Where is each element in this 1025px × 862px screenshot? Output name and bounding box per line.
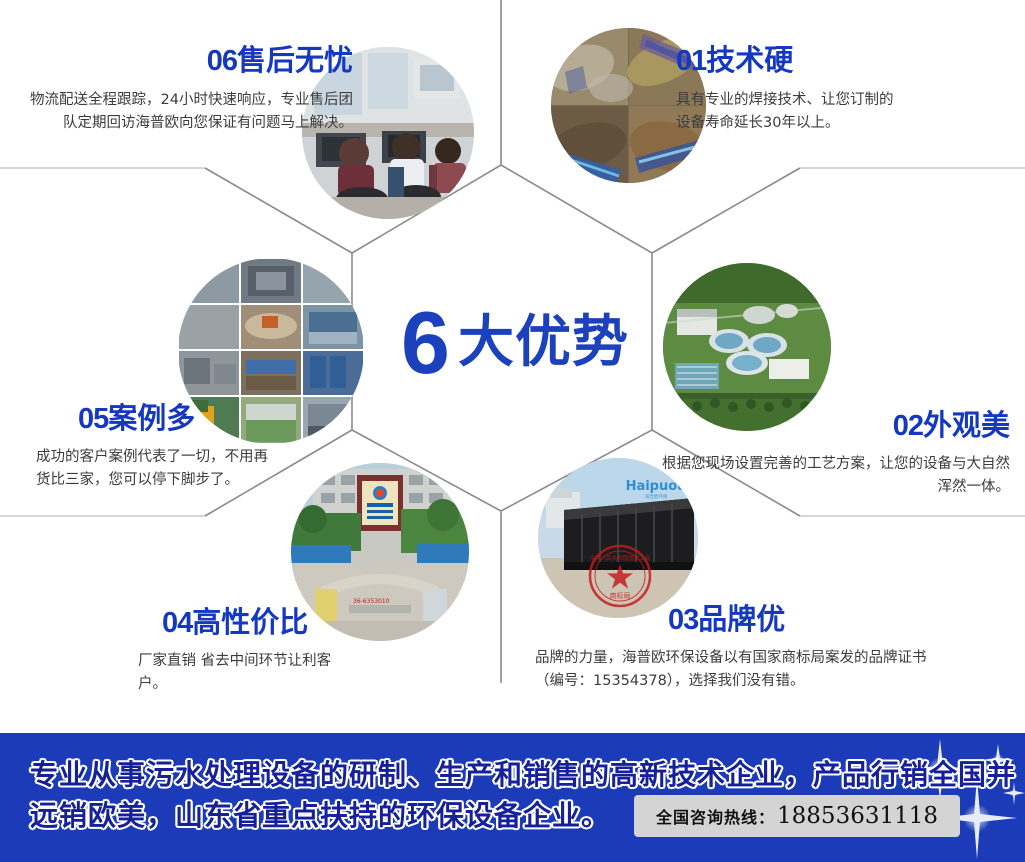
feature-03-number: 03 (668, 604, 698, 636)
feature-03: 03品牌优 品牌的力量，海普欧环保设备以有国家商标局案发的品牌证书（编号：153… (535, 605, 935, 694)
feature-02: 02外观美 根据您现场设置完善的工艺方案，让您的设备与大自然浑然一体。 (660, 411, 1010, 500)
feature-03-title: 品牌优 (698, 602, 785, 636)
feature-02-heading: 02外观美 (660, 411, 1010, 441)
feature-01-heading: 01技术硬 (676, 46, 1006, 76)
feature-02-title: 外观美 (923, 408, 1010, 442)
feature-04-body: 厂家直销 省去中间环节让利客户。 (138, 650, 338, 697)
photo-circle-02-plant-aerial (663, 263, 831, 431)
feature-05-heading: 05案例多 (78, 404, 326, 434)
feature-06-body: 物流配送全程跟踪，24小时快速响应，专业售后团队定期回访海普欧向您保证有问题马上… (18, 89, 353, 136)
feature-06-title: 售后无忧 (237, 43, 353, 77)
banner-line-1: 专业从事污水处理设备的研制、生产和销售的高新技术企业，产品行销全国并 (30, 755, 1025, 795)
feature-01-title: 技术硬 (706, 43, 793, 77)
promo-banner-page: 6 大优势 (0, 0, 1025, 862)
feature-01-body: 具有专业的焊接技术、让您订制的设备寿命延长30年以上。 (676, 89, 896, 136)
bottom-banner: 专业从事污水处理设备的研制、生产和销售的高新技术企业，产品行销全国并 远销欧美，… (0, 733, 1025, 862)
feature-04-number: 04 (162, 607, 192, 639)
feature-01-number: 01 (676, 45, 706, 77)
hotline-label: 全国咨询热线： (656, 804, 775, 828)
center-headline: 6 大优势 (375, 288, 655, 398)
feature-04-heading: 04高性价比 (162, 608, 400, 638)
feature-05: 05案例多 成功的客户案例代表了一切，不用再货比三家，您可以停下脚步了。 (36, 404, 326, 493)
center-text: 大优势 (458, 315, 629, 371)
feature-04: 04高性价比 厂家直销 省去中间环节让利客户。 (100, 608, 400, 697)
feature-04-title: 高性价比 (192, 605, 308, 639)
svg-text:商标局: 商标局 (610, 591, 631, 600)
feature-06-heading: 06售后无忧 (18, 46, 353, 76)
feature-02-number: 02 (893, 410, 923, 442)
svg-text:36-6353010: 36-6353010 (353, 598, 390, 605)
feature-02-body: 根据您现场设置完善的工艺方案，让您的设备与大自然浑然一体。 (660, 453, 1010, 500)
feature-06: 06售后无忧 物流配送全程跟踪，24小时快速响应，专业售后团队定期回访海普欧向您… (18, 46, 353, 136)
feature-03-body: 品牌的力量，海普欧环保设备以有国家商标局案发的品牌证书（编号：15354378）… (535, 647, 935, 694)
feature-01: 01技术硬 具有专业的焊接技术、让您订制的设备寿命延长30年以上。 (676, 46, 1006, 136)
spoke-upper-right (652, 168, 800, 253)
center-number: 6 (401, 299, 448, 387)
feature-05-number: 05 (78, 403, 108, 435)
feature-05-body: 成功的客户案例代表了一切，不用再货比三家，您可以停下脚步了。 (36, 446, 276, 493)
feature-06-number: 06 (207, 45, 237, 77)
feature-05-title: 案例多 (108, 401, 195, 435)
svg-text:中华人民共和国国家工商: 中华人民共和国国家工商 (590, 554, 651, 562)
hotline-box[interactable]: 全国咨询热线： 18853631118 (634, 795, 960, 837)
feature-03-heading: 03品牌优 (668, 605, 935, 635)
hotline-number: 18853631118 (777, 803, 938, 829)
banner-line-2: 远销欧美，山东省重点扶持的环保设备企业。 (30, 796, 610, 836)
